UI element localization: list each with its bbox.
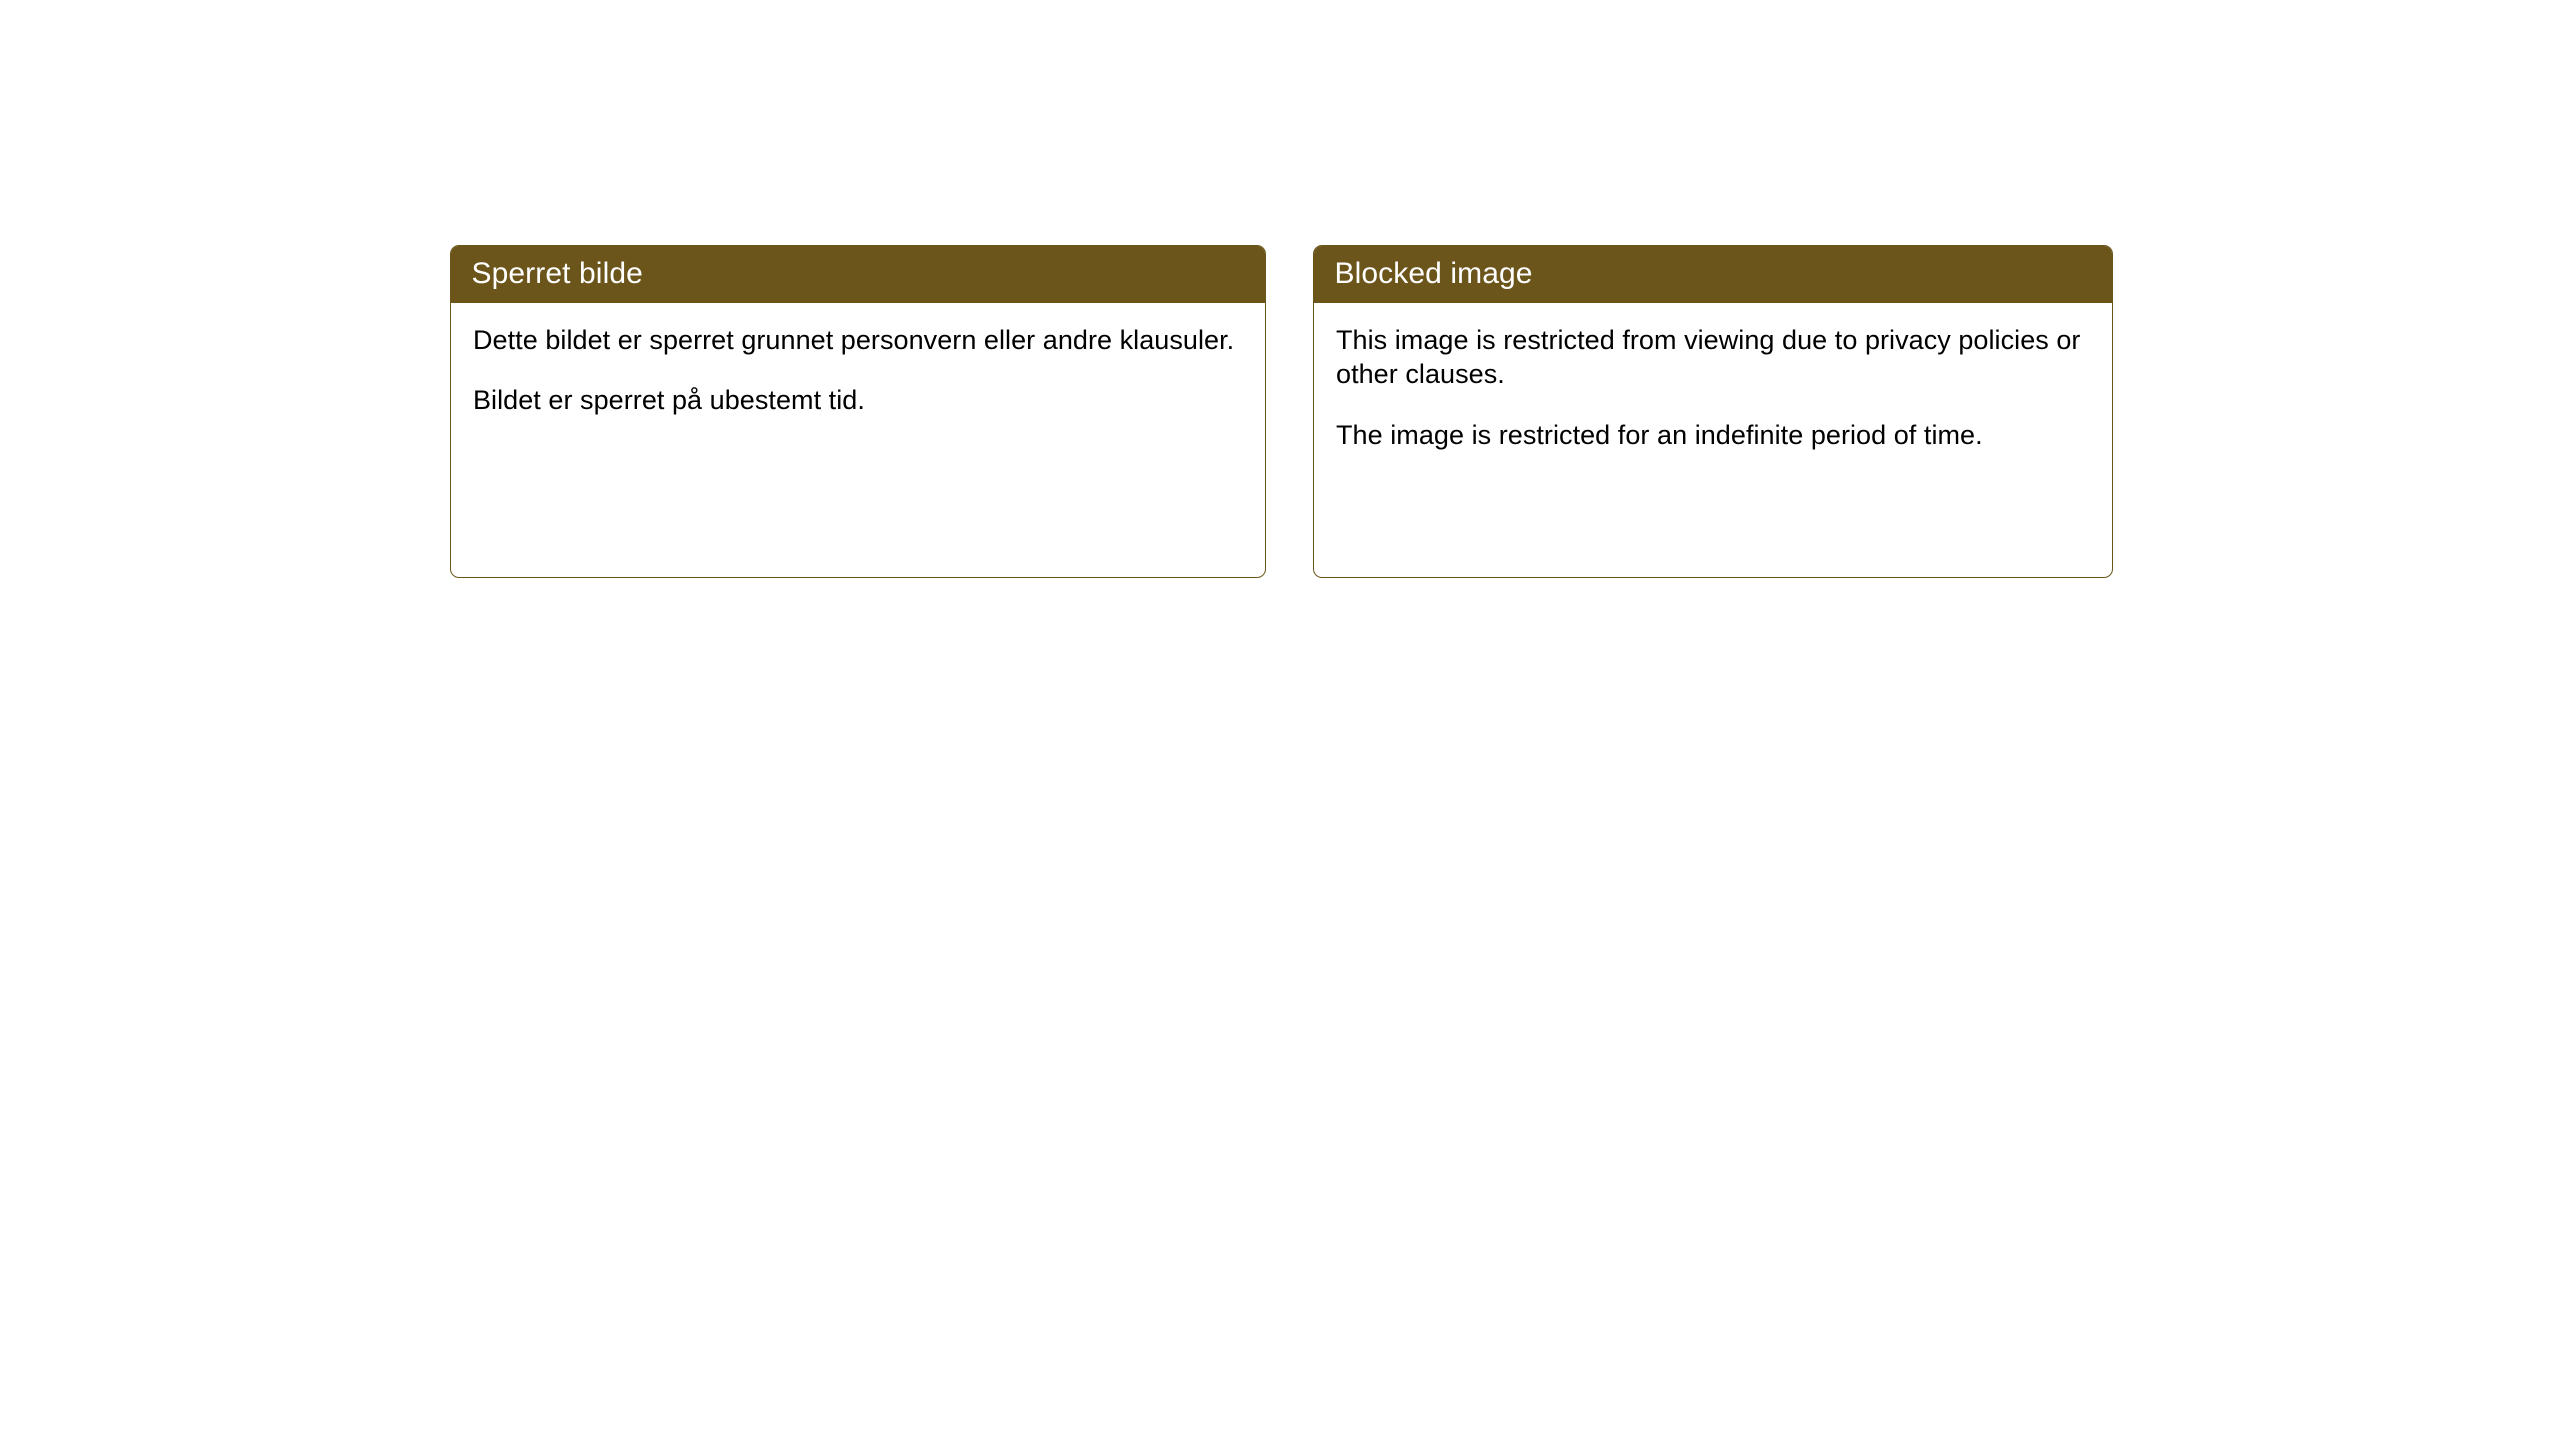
card-paragraph-reason-norwegian: Dette bildet er sperret grunnet personve… xyxy=(473,323,1241,358)
card-paragraph-duration-norwegian: Bildet er sperret på ubestemt tid. xyxy=(473,383,1241,418)
blocked-image-card-norwegian: Sperret bilde Dette bildet er sperret gr… xyxy=(450,245,1266,578)
card-header-english: Blocked image xyxy=(1313,245,2113,303)
card-body-norwegian: Dette bildet er sperret grunnet personve… xyxy=(451,303,1265,578)
card-paragraph-duration-english: The image is restricted for an indefinit… xyxy=(1336,418,2088,453)
card-body-english: This image is restricted from viewing du… xyxy=(1314,303,2112,578)
card-title-norwegian: Sperret bilde xyxy=(472,259,643,289)
card-paragraph-reason-english: This image is restricted from viewing du… xyxy=(1336,323,2088,392)
blocked-image-notice-container: Sperret bilde Dette bildet er sperret gr… xyxy=(450,245,2113,578)
blocked-image-card-english: Blocked image This image is restricted f… xyxy=(1313,245,2113,578)
card-title-english: Blocked image xyxy=(1335,259,1533,289)
card-header-norwegian: Sperret bilde xyxy=(450,245,1266,303)
